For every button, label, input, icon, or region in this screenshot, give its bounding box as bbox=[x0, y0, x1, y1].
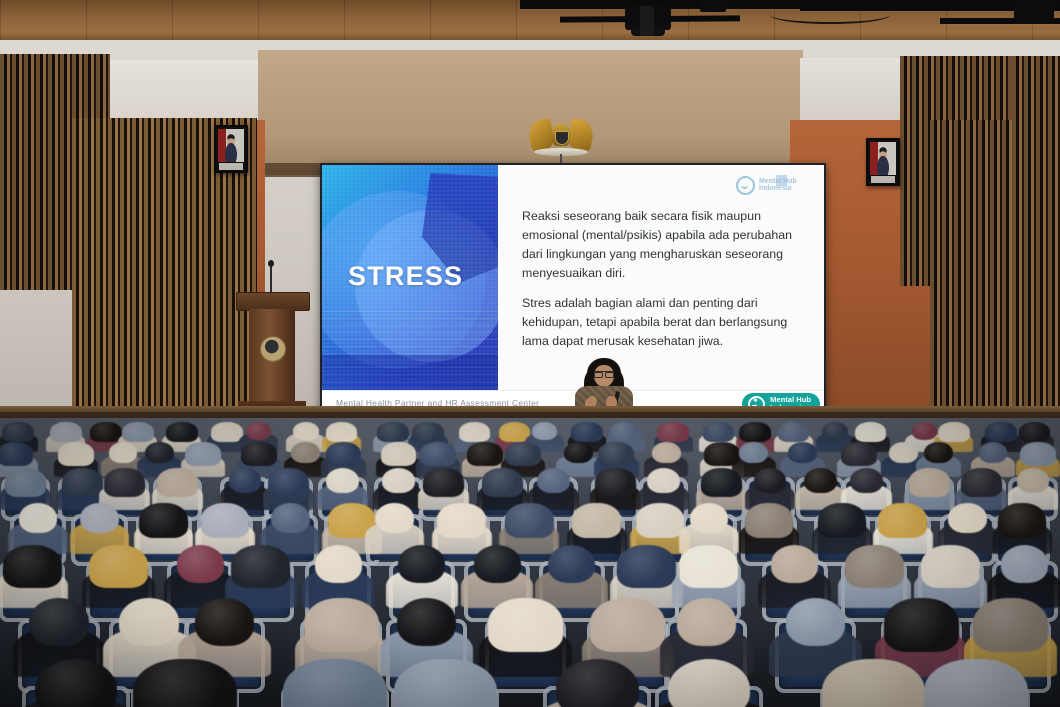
audience-member-head bbox=[912, 422, 937, 440]
audience-member-head bbox=[29, 598, 89, 646]
audience-member-head bbox=[690, 503, 729, 534]
audience-member-hijab bbox=[590, 598, 665, 652]
audience-member-head bbox=[398, 545, 445, 583]
eyeglasses-icon bbox=[594, 371, 614, 377]
presentation-hall-photo: STRESS Mental Hub Indonesia Reaksi seseo… bbox=[0, 0, 1060, 707]
audience-member-head bbox=[19, 503, 58, 534]
audience-member-hijab bbox=[745, 503, 794, 538]
hanging-microphone-icon bbox=[640, 6, 654, 36]
audience-member-hijab bbox=[50, 422, 82, 443]
audience-member-hijab bbox=[938, 422, 970, 443]
audience-member-hijab bbox=[157, 468, 198, 497]
audience-member-hijab bbox=[58, 442, 94, 466]
audience-member-head bbox=[1001, 545, 1048, 583]
audience-member-hijab bbox=[437, 503, 486, 538]
audience-member-hijab bbox=[1020, 442, 1056, 466]
garuda-emblem-icon bbox=[528, 118, 594, 162]
sparkle-icon: ✦ bbox=[752, 397, 759, 405]
slide-watermark-logo: Mental Hub Indonesia bbox=[736, 175, 810, 195]
audience-member-head bbox=[271, 503, 310, 534]
spotlight-center-icon bbox=[700, 0, 726, 12]
audience-member-hijab bbox=[998, 503, 1047, 538]
audience-member-hijab bbox=[326, 442, 362, 466]
audience-member-hijab bbox=[2, 422, 34, 443]
audience-member-hijab bbox=[304, 598, 379, 652]
audience-member-hijab bbox=[739, 422, 771, 443]
audience-member-head bbox=[1017, 468, 1050, 493]
audience-member-hijab bbox=[778, 422, 810, 443]
audience-member-hijab bbox=[139, 503, 188, 538]
audience-member-hijab bbox=[241, 442, 277, 466]
audience-member-head bbox=[548, 545, 595, 583]
audience-member-head bbox=[177, 545, 224, 583]
audience-member-hijab bbox=[973, 598, 1048, 652]
audience-member-hijab bbox=[571, 422, 603, 443]
audience-member-head bbox=[229, 468, 262, 493]
audience-member-head bbox=[556, 659, 638, 707]
audience-member-hijab bbox=[855, 422, 887, 443]
audience-member-hijab bbox=[572, 503, 621, 538]
audience-member-head bbox=[850, 468, 883, 493]
audience-member-hijab bbox=[841, 442, 877, 466]
audience-member-hijab bbox=[818, 503, 867, 538]
audience-member-head bbox=[326, 468, 359, 493]
audience-member-head bbox=[195, 598, 255, 646]
audience-member-head bbox=[739, 442, 768, 463]
audience-member-hijab bbox=[201, 503, 250, 538]
audience-member-head bbox=[786, 598, 846, 646]
audience-member-hijab bbox=[1019, 422, 1051, 443]
audience-member-hijab bbox=[884, 598, 959, 652]
audience-member-head bbox=[647, 468, 680, 493]
audience-member-head bbox=[537, 468, 570, 493]
slide-title: STRESS bbox=[348, 261, 463, 292]
audience-member-head bbox=[822, 422, 847, 440]
audience-member-hijab bbox=[703, 422, 735, 443]
audience-member-hijab bbox=[211, 422, 243, 443]
audience-member-hijab bbox=[505, 503, 554, 538]
audience-member-hijab bbox=[878, 503, 927, 538]
audience-member-hijab bbox=[420, 442, 456, 466]
slide-paragraph-2: Stres adalah bagian alami dan penting da… bbox=[522, 294, 804, 351]
slide-title-panel: STRESS bbox=[322, 165, 498, 417]
audience-member-head bbox=[564, 442, 593, 463]
audience-member-hijab bbox=[133, 659, 236, 707]
watermark-line-2: Indonesia bbox=[759, 185, 797, 192]
audience-member-hijab bbox=[701, 468, 742, 497]
audience-member-hijab bbox=[985, 422, 1017, 443]
garuda-shield bbox=[555, 131, 569, 145]
audience-member-head bbox=[293, 422, 318, 440]
watermark-square-icon bbox=[776, 175, 787, 186]
audience-member-head bbox=[532, 422, 557, 440]
audience-member-head bbox=[889, 442, 918, 463]
garuda-wing-right bbox=[566, 118, 596, 152]
audience-member-hijab bbox=[595, 468, 636, 497]
portrait-image bbox=[870, 142, 896, 175]
audience-member-hijab bbox=[5, 468, 46, 497]
audience-member-hijab bbox=[166, 422, 198, 443]
audience-member-head bbox=[948, 503, 987, 534]
audience-member-head bbox=[382, 468, 415, 493]
mental-hub-smiley-icon bbox=[736, 176, 755, 195]
audience-member-head bbox=[145, 442, 174, 463]
audience-member-head bbox=[397, 598, 457, 646]
audience-member-hijab bbox=[636, 503, 685, 538]
audience-member-hijab bbox=[231, 545, 290, 588]
audience-member-hijab bbox=[598, 442, 634, 466]
audience-member-hijab bbox=[381, 442, 417, 466]
audience-member-hijab bbox=[394, 659, 497, 707]
wood-slat-panel-far-right bbox=[1012, 56, 1060, 426]
audience-member-hijab bbox=[909, 468, 950, 497]
audience-member-head bbox=[677, 598, 737, 646]
audience-member-head bbox=[652, 442, 681, 463]
audience-member-hijab bbox=[679, 545, 738, 588]
audience-member-hijab bbox=[62, 468, 103, 497]
spotlight-right-icon bbox=[1014, 0, 1054, 22]
portrait-nameplate bbox=[219, 163, 243, 170]
audience-member-head bbox=[788, 442, 817, 463]
audience-member-head bbox=[80, 503, 119, 534]
audience-member-hijab bbox=[89, 545, 148, 588]
audience-member-head bbox=[291, 442, 320, 463]
institution-seal-icon bbox=[260, 336, 286, 362]
audience-member-head bbox=[924, 442, 953, 463]
audience-member-hijab bbox=[609, 422, 641, 443]
audience-member-hijab bbox=[657, 422, 689, 443]
audience-member-hijab bbox=[326, 422, 358, 443]
audience-member-hijab bbox=[505, 442, 541, 466]
presidential-portrait-right bbox=[866, 138, 900, 186]
audience-member-hijab bbox=[3, 545, 62, 588]
audience-member-head bbox=[375, 503, 414, 534]
audience-member-head bbox=[119, 598, 179, 646]
audience-member-head bbox=[754, 468, 787, 493]
audience-member-hijab bbox=[467, 442, 503, 466]
audience-member-hijab bbox=[459, 422, 491, 443]
audience-member-head bbox=[109, 442, 138, 463]
audience-member-head bbox=[315, 545, 362, 583]
slide-body-text: Reaksi seseorang baik secara fisik maupu… bbox=[522, 207, 804, 363]
audience-member-hijab bbox=[412, 422, 444, 443]
audience-member-hijab bbox=[104, 468, 145, 497]
presidential-portrait-left bbox=[214, 125, 248, 173]
audience-member-hijab bbox=[377, 422, 409, 443]
portrait-nameplate bbox=[871, 176, 895, 183]
audience-member-head bbox=[771, 545, 818, 583]
audience-member-hijab bbox=[185, 442, 221, 466]
audience-member-hijab bbox=[845, 545, 904, 588]
slide-paragraph-1: Reaksi seseorang baik secara fisik maupu… bbox=[522, 207, 804, 282]
audience-member-hijab bbox=[921, 545, 980, 588]
audience-member-hijab bbox=[423, 468, 464, 497]
podium bbox=[236, 292, 308, 420]
audience-member-hijab bbox=[283, 659, 386, 707]
audience-member-hijab bbox=[122, 422, 154, 443]
hanging-cable bbox=[770, 6, 890, 24]
audience-member-hijab bbox=[488, 598, 563, 652]
audience-seating-area: Program TPB - ITB bbox=[0, 418, 1060, 707]
audience-member-head bbox=[246, 422, 271, 440]
audience-member-hijab bbox=[617, 545, 676, 588]
audience-member-hijab bbox=[268, 468, 309, 497]
audience-member-hijab bbox=[961, 468, 1002, 497]
audience-member-head bbox=[979, 442, 1008, 463]
audience-member-hijab bbox=[924, 659, 1027, 707]
audience-member-head bbox=[474, 545, 521, 583]
audience-member-hijab bbox=[0, 442, 33, 466]
podium-microphone-icon bbox=[270, 264, 272, 294]
audience-member-hijab bbox=[482, 468, 523, 497]
portrait-image bbox=[218, 129, 244, 162]
audience-member-head bbox=[804, 468, 837, 493]
